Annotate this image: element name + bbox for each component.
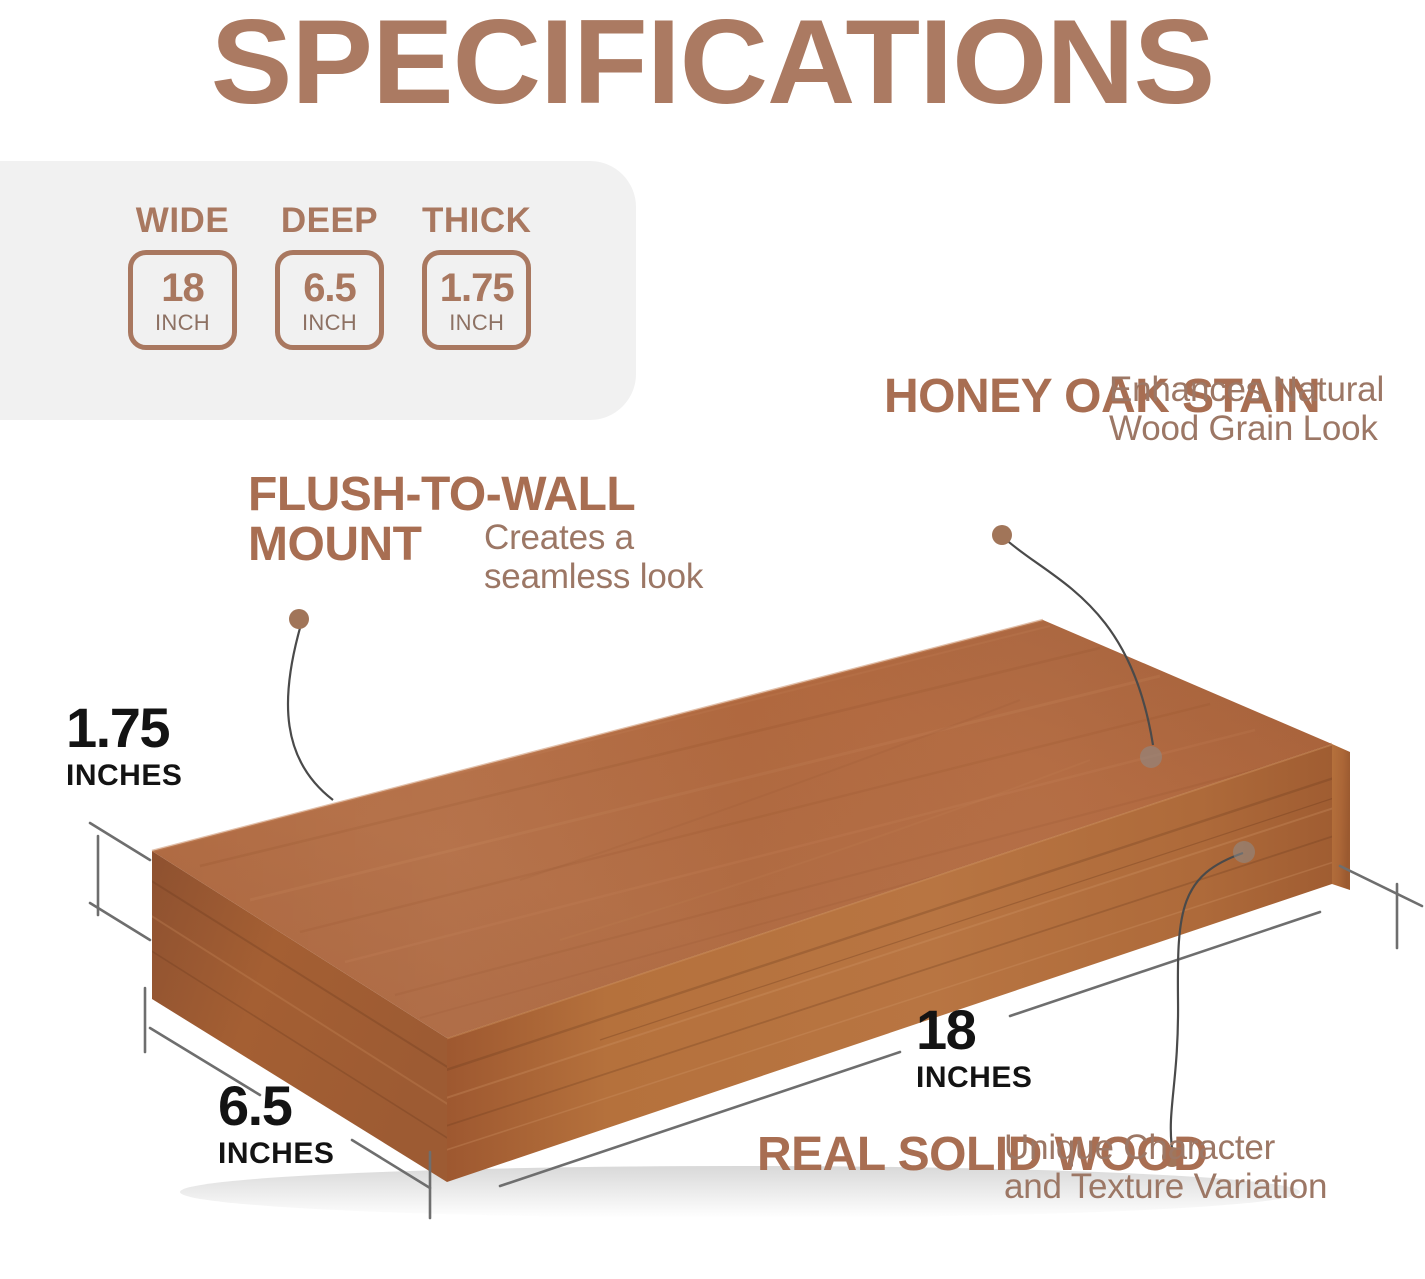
- product-illustration: [0, 0, 1425, 1279]
- callout-wood-sub: Unique Character and Texture Variation: [1004, 1128, 1425, 1206]
- dimension-label-depth: 6.5 INCHES: [218, 1078, 334, 1169]
- dimension-unit-width: INCHES: [916, 1063, 1032, 1093]
- callout-honey-sub: Enhances Natural Wood Grain Look: [1109, 370, 1425, 448]
- callout-dot-flush: [289, 609, 309, 629]
- dimension-unit-depth: INCHES: [218, 1139, 334, 1169]
- leader-anchor-wood: [1233, 841, 1255, 863]
- callout-honey-sub-line1: Enhances Natural: [1109, 370, 1425, 409]
- callout-flush-to-wall-mount: FLUSH-TO-WALL MOUNT Creates a seamless l…: [248, 470, 808, 596]
- callout-honey-sub-line2: Wood Grain Look: [1109, 409, 1425, 448]
- callout-real-solid-wood: REAL SOLID WOOD Unique Character and Tex…: [757, 1130, 1425, 1206]
- dimension-value-thickness: 1.75: [66, 700, 182, 756]
- shelf-right-end-face: [1332, 744, 1350, 890]
- dimension-value-depth: 6.5: [218, 1078, 334, 1134]
- callout-wood-sub-line2: and Texture Variation: [1004, 1167, 1425, 1206]
- callout-wood-sub-line1: Unique Character: [1004, 1128, 1425, 1167]
- leader-flush-to-wall-mount: [288, 609, 333, 800]
- dimension-label-width: 18 INCHES: [916, 1002, 1032, 1093]
- leader-anchor-honey: [1140, 746, 1162, 768]
- dimension-unit-thickness: INCHES: [66, 761, 182, 791]
- callout-honey-oak-stain: HONEY OAK STAIN Enhances Natural Wood Gr…: [884, 372, 1425, 448]
- dimension-line-thickness: [90, 823, 150, 940]
- dimension-value-width: 18: [916, 1002, 1032, 1058]
- callout-dot-honey: [992, 525, 1012, 545]
- dimension-label-thickness: 1.75 INCHES: [66, 700, 182, 791]
